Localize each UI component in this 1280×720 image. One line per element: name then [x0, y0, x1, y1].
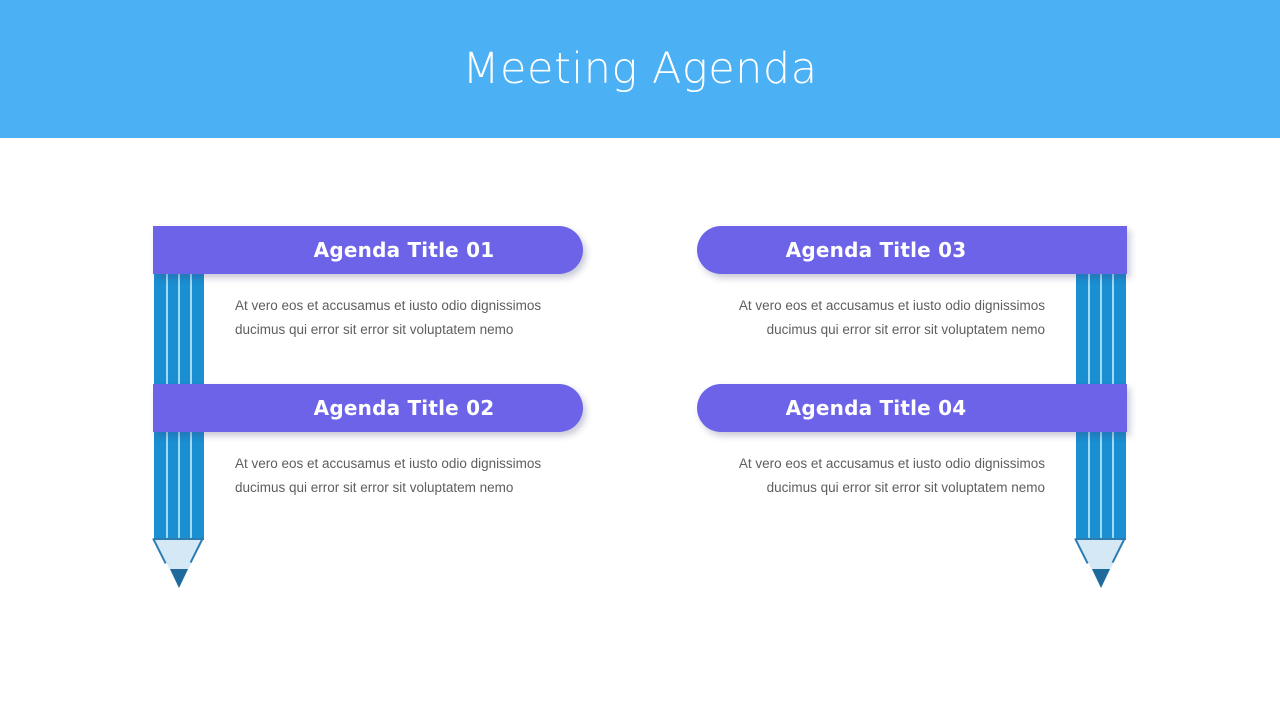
agenda-title-bar-02[interactable]: Agenda Title 02: [153, 384, 583, 432]
agenda-body-line: ducimus qui error sit error sit voluptat…: [705, 476, 1045, 500]
pencil-tip-right: [1076, 538, 1126, 588]
agenda-body-01: At vero eos et accusamus et iusto odio d…: [235, 294, 575, 342]
pencil-tip-top-edge: [154, 538, 204, 540]
agenda-body-line: ducimus qui error sit error sit voluptat…: [235, 476, 575, 500]
agenda-body-line: At vero eos et accusamus et iusto odio d…: [705, 294, 1045, 318]
agenda-body-line: At vero eos et accusamus et iusto odio d…: [235, 294, 575, 318]
agenda-body-03: At vero eos et accusamus et iusto odio d…: [705, 294, 1045, 342]
agenda-title-label-03: Agenda Title 03: [786, 238, 967, 262]
pencil-tip-left: [154, 538, 204, 588]
agenda-title-label-04: Agenda Title 04: [786, 396, 967, 420]
agenda-title-label-02: Agenda Title 02: [314, 396, 495, 420]
agenda-title-bar-01[interactable]: Agenda Title 01: [153, 226, 583, 274]
agenda-title-bar-03[interactable]: Agenda Title 03: [697, 226, 1127, 274]
pencil-lead: [170, 569, 188, 588]
agenda-body-line: At vero eos et accusamus et iusto odio d…: [705, 452, 1045, 476]
agenda-title-bar-04[interactable]: Agenda Title 04: [697, 384, 1127, 432]
agenda-body-02: At vero eos et accusamus et iusto odio d…: [235, 452, 575, 500]
agenda-body-04: At vero eos et accusamus et iusto odio d…: [705, 452, 1045, 500]
agenda-body-line: ducimus qui error sit error sit voluptat…: [705, 318, 1045, 342]
agenda-body-line: At vero eos et accusamus et iusto odio d…: [235, 452, 575, 476]
agenda-body-line: ducimus qui error sit error sit voluptat…: [235, 318, 575, 342]
page-title: Meeting Agenda: [0, 0, 1280, 138]
slide-canvas: Meeting Agenda: [0, 0, 1280, 720]
pencil-tip-top-edge: [1076, 538, 1126, 540]
pencil-lead: [1092, 569, 1110, 588]
agenda-title-label-01: Agenda Title 01: [314, 238, 495, 262]
